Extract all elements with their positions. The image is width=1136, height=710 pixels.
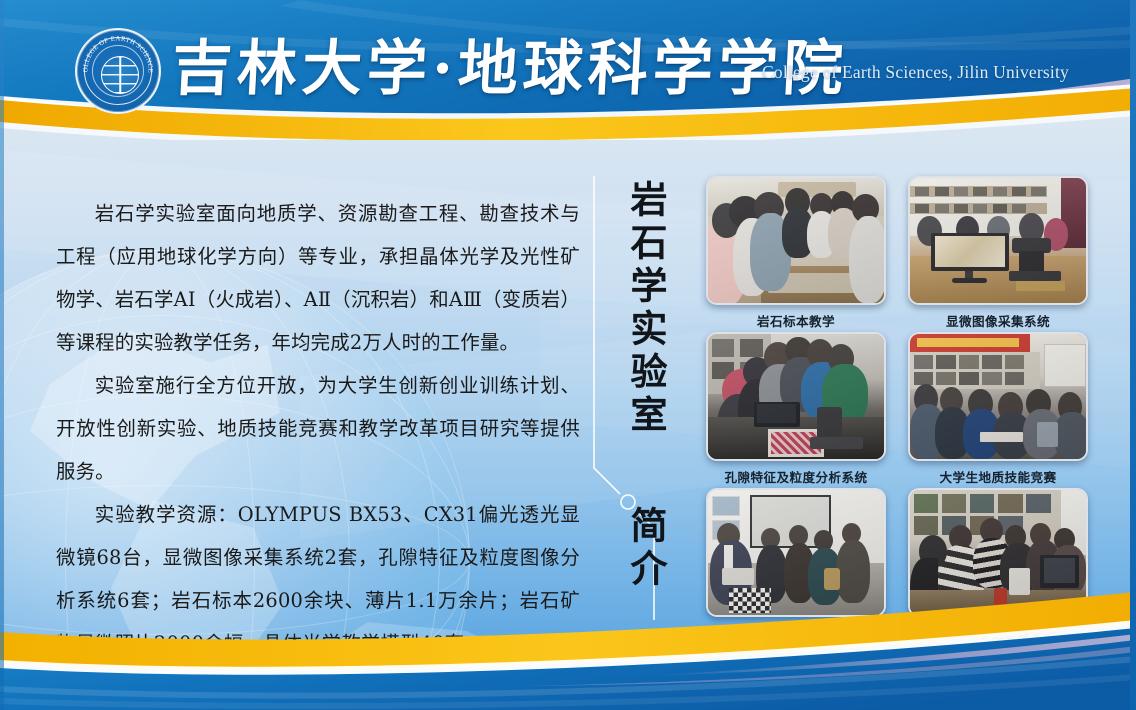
photo-scene-micro-imaging xyxy=(910,178,1086,303)
gallery-item-3[interactable]: 孔隙特征及粒度分析系统 xyxy=(706,332,886,486)
left-edge-strip xyxy=(0,0,4,710)
emblem-ring-text-path: COLLEGE OF EARTH SCIENCES xyxy=(77,30,154,73)
gallery-photo-4[interactable] xyxy=(908,332,1088,461)
vertical-title-sub: 简介 xyxy=(612,506,668,592)
gallery-caption-3: 孔隙特征及粒度分析系统 xyxy=(706,467,886,486)
gallery-item-2[interactable]: 显微图像采集系统 xyxy=(908,176,1088,330)
gallery-photo-1[interactable] xyxy=(706,176,886,305)
gallery-caption-4: 大学生地质技能竞赛 xyxy=(908,467,1088,486)
vertical-title-main: 岩石学实验室 xyxy=(612,180,668,438)
photo-scene-rock-specimen-class xyxy=(708,178,884,303)
photo-scene-pore-analysis xyxy=(708,334,884,459)
right-edge-strip xyxy=(1130,0,1136,710)
footer-band xyxy=(0,590,1136,710)
intro-paragraph-2: 实验室施行全方位开放，为大学生创新创业训练计划、开放性创新实验、地质技能竞赛和教… xyxy=(56,364,580,493)
gallery-photo-2[interactable] xyxy=(908,176,1088,305)
gallery-item-4[interactable]: 大学生地质技能竞赛 xyxy=(908,332,1088,486)
gallery-caption-2: 显微图像采集系统 xyxy=(908,311,1088,330)
gallery-photo-3[interactable] xyxy=(706,332,886,461)
photo-scene-geology-skills-contest xyxy=(910,334,1086,459)
poster-root: COLLEGE OF EARTH SCIENCES 吉林大学·地球科学学院 Co… xyxy=(0,0,1136,710)
gallery-caption-1: 岩石标本教学 xyxy=(706,311,886,330)
photo-gallery: 岩石标本教学 xyxy=(706,176,1088,636)
vertical-title-block: 岩石学实验室 简介 xyxy=(598,180,670,620)
page-title-cn: 吉林大学·地球科学学院 xyxy=(170,26,850,112)
intro-paragraph-1: 岩石学实验室面向地质学、资源勘查工程、勘查技术与工程（应用地球化学方向）等专业，… xyxy=(56,192,580,364)
gallery-item-1[interactable]: 岩石标本教学 xyxy=(706,176,886,330)
college-emblem-logo: COLLEGE OF EARTH SCIENCES xyxy=(75,28,161,114)
page-title-en: College of Earth Sciences, Jilin Univers… xyxy=(762,62,1069,83)
svg-text:COLLEGE OF EARTH SCIENCES: COLLEGE OF EARTH SCIENCES xyxy=(77,30,154,73)
emblem-ring-text: COLLEGE OF EARTH SCIENCES xyxy=(77,30,159,112)
